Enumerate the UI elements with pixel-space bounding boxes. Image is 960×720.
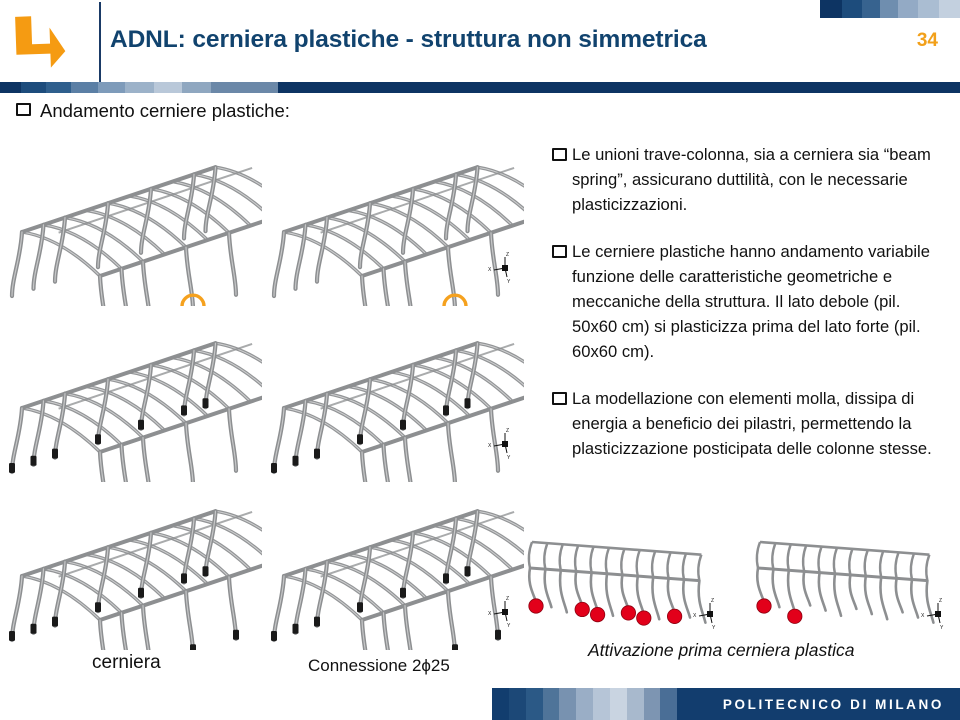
footer-strip-segment: [492, 688, 509, 720]
base-marker: [443, 573, 449, 583]
base-marker: [9, 631, 15, 641]
svg-text:X: X: [921, 613, 925, 619]
svg-text:Y: Y: [940, 625, 944, 631]
sideview-right: ZXY: [748, 524, 960, 641]
svg-text:Y: Y: [507, 279, 511, 285]
fig-r2c2-drawing: ZXY: [262, 312, 524, 482]
square-bullet-icon: [552, 245, 567, 258]
plastic-hinge-dot: [667, 609, 681, 623]
plastic-hinge-dot: [529, 599, 543, 613]
note-modellazione: La modellazione con elementi molla, diss…: [552, 386, 948, 461]
caption-cerniera: cerniera: [92, 652, 161, 674]
footer-strip-segment: [593, 688, 610, 720]
fig-r3c1: [0, 480, 262, 650]
base-marker: [400, 420, 406, 430]
top-decorative-strip: [820, 0, 960, 18]
note-unioni: Le unioni trave-colonna, sia a cerniera …: [552, 142, 948, 217]
strip-segment: [862, 0, 880, 18]
base-marker: [31, 624, 37, 634]
strip-segment: [71, 82, 98, 93]
base-marker: [138, 420, 144, 430]
plastic-hinge-dot: [788, 609, 802, 623]
fig-r3c2-drawing: ZXY: [262, 480, 524, 650]
base-marker: [452, 644, 458, 650]
square-bullet-icon: [552, 392, 567, 405]
plastic-hinge-dot: [575, 602, 589, 616]
strip-segment: [278, 82, 960, 93]
svg-text:Z: Z: [711, 598, 714, 604]
axis-triad-icon: ZXY: [693, 598, 716, 631]
fig-r1c1: [0, 136, 262, 306]
footer-strip-segment: [526, 688, 543, 720]
fig-r2c1: [0, 312, 262, 482]
sideview-left: ZXY: [520, 524, 732, 641]
strip-segment: [211, 82, 278, 93]
fig-r1c2-drawing: ZXY: [262, 136, 524, 306]
base-marker: [203, 566, 209, 576]
header-separator-band: [0, 82, 960, 93]
plastic-hinge-dot: [621, 606, 635, 620]
base-marker: [95, 602, 101, 612]
note-modellazione-text: La modellazione con elementi molla, diss…: [572, 389, 932, 458]
base-marker: [314, 449, 320, 459]
square-bullet-icon: [16, 103, 31, 116]
footer-strip-segment: [509, 688, 526, 720]
base-marker: [52, 617, 58, 627]
sideview-figures: ZXYZXY: [520, 524, 960, 634]
strip-segment: [125, 82, 154, 93]
strip-segment: [880, 0, 898, 18]
base-marker: [203, 398, 209, 408]
strip-segment: [154, 82, 183, 93]
base-marker: [181, 405, 187, 415]
square-bullet-icon: [552, 148, 567, 161]
svg-text:Y: Y: [507, 455, 511, 461]
axis-triad-icon: ZXY: [921, 598, 944, 631]
base-marker: [495, 630, 501, 640]
footer-strip-segment: [644, 688, 661, 720]
caption-attivazione: Attivazione prima cerniera plastica: [588, 640, 855, 661]
base-marker: [233, 630, 239, 640]
fig-r2c2: ZXY: [262, 312, 524, 482]
strip-segment: [842, 0, 862, 18]
lead-bullet: Andamento cerniere plastiche:: [16, 100, 290, 122]
svg-text:X: X: [488, 443, 492, 449]
strip-segment: [182, 82, 211, 93]
base-marker: [465, 566, 471, 576]
header-divider-rule: [99, 2, 101, 82]
svg-text:Z: Z: [506, 596, 509, 602]
plastic-hinge-dot: [590, 607, 604, 621]
strip-segment: [46, 82, 71, 93]
svg-text:Z: Z: [506, 252, 509, 258]
base-marker: [293, 624, 299, 634]
base-marker: [314, 617, 320, 627]
base-marker: [181, 573, 187, 583]
strip-segment: [21, 82, 46, 93]
footer-brand-bar: POLITECNICO DI MILANO: [492, 688, 960, 720]
base-marker: [190, 644, 196, 650]
footer-strip-segment: [576, 688, 593, 720]
orange-arrow-icon: [10, 14, 68, 70]
fig-r1c2: ZXY: [262, 136, 524, 306]
base-marker: [400, 588, 406, 598]
strip-segment: [0, 82, 21, 93]
base-marker: [465, 398, 471, 408]
svg-text:X: X: [488, 611, 492, 617]
strip-segment: [918, 0, 939, 18]
fig-r1c1-drawing: [0, 136, 262, 306]
strip-segment: [939, 0, 960, 18]
structure-figure-grid: ZXYZXYZXY: [0, 136, 530, 648]
base-marker: [271, 463, 277, 473]
svg-text:X: X: [488, 267, 492, 273]
svg-text:Z: Z: [506, 428, 509, 434]
strip-segment: [820, 0, 842, 18]
notes-column: Le unioni trave-colonna, sia a cerniera …: [552, 142, 948, 483]
note-unioni-text: Le unioni trave-colonna, sia a cerniera …: [572, 145, 931, 214]
base-marker: [52, 449, 58, 459]
footer-strip-segment: [660, 688, 677, 720]
base-marker: [271, 631, 277, 641]
slide-header: ADNL: cerniera plastiche - struttura non…: [0, 0, 960, 82]
plastic-hinge-dot: [757, 599, 771, 613]
lead-bullet-text: Andamento cerniere plastiche:: [40, 100, 290, 122]
institution-name: POLITECNICO DI MILANO: [723, 697, 944, 712]
footer-strip-segment: [559, 688, 576, 720]
svg-text:Y: Y: [507, 623, 511, 629]
caption-connessione: Connessione 2ϕ25: [308, 656, 450, 676]
svg-text:Y: Y: [712, 625, 716, 631]
strip-segment: [98, 82, 125, 93]
page-number: 34: [917, 30, 938, 52]
note-cerniere-text: Le cerniere plastiche hanno andamento va…: [572, 242, 930, 361]
note-cerniere: Le cerniere plastiche hanno andamento va…: [552, 239, 948, 364]
sideview-left-drawing: ZXY: [520, 524, 732, 636]
footer-brand-block: POLITECNICO DI MILANO: [677, 688, 960, 720]
base-marker: [31, 456, 37, 466]
base-marker: [293, 456, 299, 466]
base-marker: [9, 463, 15, 473]
slide-footer: POLITECNICO DI MILANO: [0, 684, 960, 720]
base-marker: [95, 434, 101, 444]
base-marker: [357, 602, 363, 612]
strip-segment: [898, 0, 918, 18]
footer-strip-segment: [627, 688, 644, 720]
svg-text:X: X: [693, 613, 697, 619]
logo-box: [0, 0, 100, 82]
fig-r2c1-drawing: [0, 312, 262, 482]
svg-text:Z: Z: [939, 598, 942, 604]
plastic-hinge-dot: [637, 611, 651, 625]
base-marker: [357, 434, 363, 444]
base-marker: [138, 588, 144, 598]
fig-r3c2: ZXY: [262, 480, 524, 650]
fig-r3c1-drawing: [0, 480, 262, 650]
base-marker: [443, 405, 449, 415]
footer-strip-segment: [610, 688, 627, 720]
footer-strip-segment: [543, 688, 560, 720]
page-title: ADNL: cerniera plastiche - struttura non…: [110, 26, 850, 54]
sideview-right-drawing: ZXY: [748, 524, 960, 636]
